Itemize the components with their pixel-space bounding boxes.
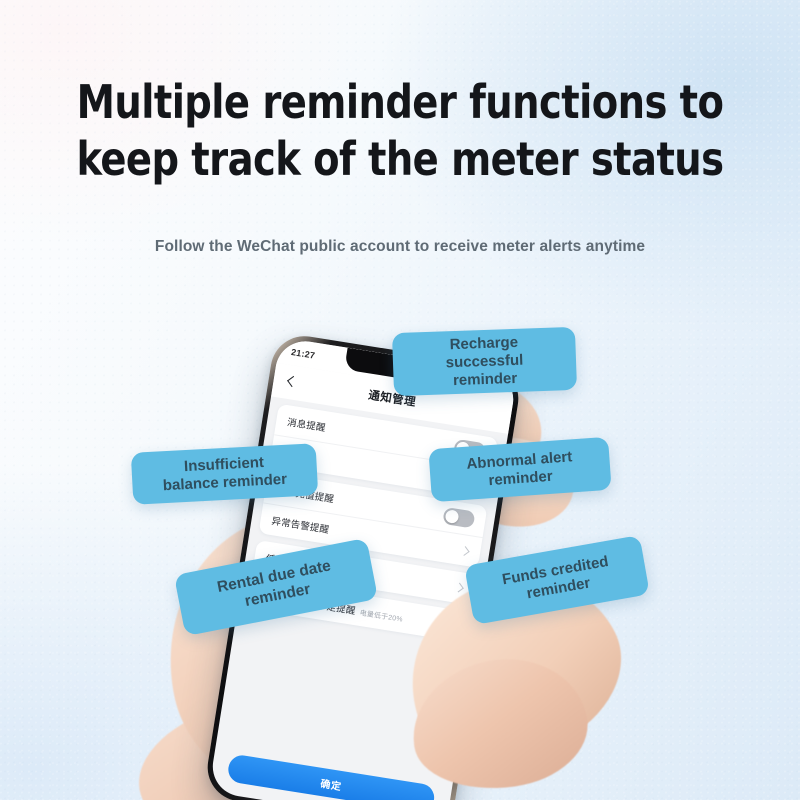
status-time: 21:27	[290, 347, 315, 361]
chevron-left-icon[interactable]	[284, 374, 300, 390]
callout-recharge-successful-reminder: Recharge successful reminder	[392, 327, 577, 396]
list-item-label: 消息提醒	[286, 417, 326, 434]
page-subtitle: Follow the WeChat public account to rece…	[0, 238, 800, 256]
toggle-switch[interactable]	[442, 507, 475, 529]
chevron-right-icon	[454, 582, 464, 592]
callout-insufficient-balance-reminder: Insufficient balance reminder	[131, 443, 318, 505]
list-item-subtitle: 电量低于20%	[359, 609, 403, 623]
promo-banner: Multiple reminder functions to keep trac…	[0, 0, 800, 800]
chevron-right-icon	[460, 545, 470, 555]
page-title: Multiple reminder functions to keep trac…	[28, 74, 772, 188]
list-item-label: 异常告警提醒	[271, 516, 330, 536]
confirm-button[interactable]: 确定	[226, 753, 436, 800]
toggle-knob	[444, 509, 460, 525]
